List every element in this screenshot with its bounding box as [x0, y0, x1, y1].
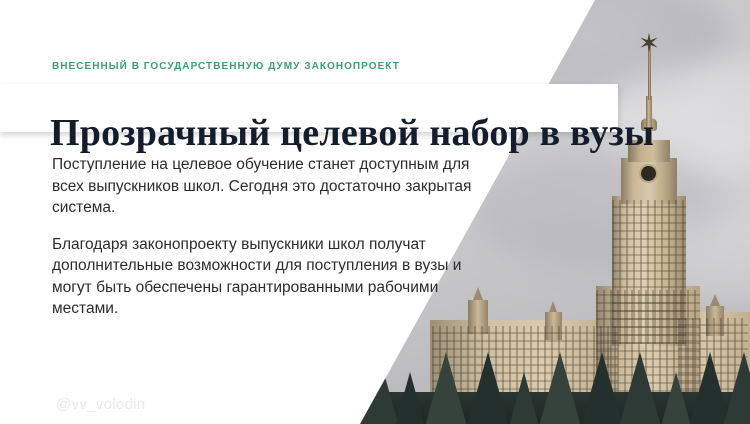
tower-clock-icon: [641, 166, 656, 181]
spire-star-icon: [636, 30, 662, 56]
tree: [424, 352, 468, 424]
tree: [466, 352, 510, 424]
building-upper-tower: [621, 158, 677, 204]
body-paragraph: Благодаря законопроекту выпускники школ …: [52, 234, 482, 320]
conifer-trees: [350, 330, 750, 424]
tree: [618, 352, 662, 424]
body-paragraph: Поступление на целевое обучение станет д…: [52, 154, 482, 219]
news-card-slide: ВНЕСЕННЫЙ В ГОСУДАРСТВЕННУЮ ДУМУ ЗАКОНОП…: [0, 0, 750, 424]
eyebrow-label: ВНЕСЕННЫЙ В ГОСУДАРСТВЕННУЮ ДУМУ ЗАКОНОП…: [52, 61, 400, 72]
body-copy: Поступление на целевое обучение станет д…: [52, 154, 482, 320]
watermark-handle: @vv_volodin: [56, 396, 145, 413]
tree: [722, 352, 750, 424]
tree: [508, 372, 540, 424]
tree: [538, 352, 582, 424]
page-title: Прозрачный целевой набор в вузы: [50, 111, 654, 155]
tree: [394, 372, 426, 424]
